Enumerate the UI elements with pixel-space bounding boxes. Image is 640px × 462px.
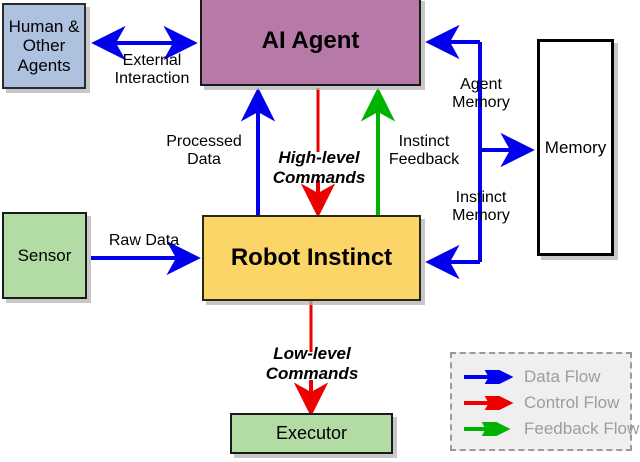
legend-label-feedback-flow: Feedback Flow xyxy=(524,419,639,439)
edge-label-agent-memory: Agent Memory xyxy=(440,76,522,113)
node-memory-label: Memory xyxy=(545,138,606,157)
legend-label-control-flow: Control Flow xyxy=(524,393,619,413)
node-memory[interactable]: Memory xyxy=(537,39,614,256)
legend-label-data-flow: Data Flow xyxy=(524,367,601,387)
feedback-flow-arrow-icon xyxy=(462,422,520,436)
edge-label-raw-data: Raw Data xyxy=(98,232,190,250)
diagram-canvas: Human & Other Agents AI Agent Memory Sen… xyxy=(0,0,640,462)
edge-label-external-interaction: External Interaction xyxy=(104,52,200,89)
node-robot-instinct-label: Robot Instinct xyxy=(231,245,392,272)
legend-item-control-flow: Control Flow xyxy=(462,390,627,416)
node-human-other-agents[interactable]: Human & Other Agents xyxy=(2,3,86,89)
control-flow-arrow-icon xyxy=(462,396,520,410)
legend-item-data-flow: Data Flow xyxy=(462,364,627,390)
edge-label-instinct-memory: Instinct Memory xyxy=(440,189,522,226)
node-executor-label: Executor xyxy=(276,423,347,443)
node-executor[interactable]: Executor xyxy=(230,413,393,454)
node-human-other-agents-label: Human & Other Agents xyxy=(9,17,80,74)
edge-label-low-level-commands: Low-level Commands xyxy=(258,344,366,383)
node-robot-instinct[interactable]: Robot Instinct xyxy=(202,215,421,301)
node-sensor-label: Sensor xyxy=(18,246,72,265)
legend-item-feedback-flow: Feedback Flow xyxy=(462,416,627,442)
edge-label-processed-data: Processed Data xyxy=(158,133,250,170)
node-ai-agent-label: AI Agent xyxy=(262,28,360,55)
legend: Data Flow Control Flow xyxy=(450,352,632,451)
edge-label-instinct-feedback: Instinct Feedback xyxy=(381,133,467,170)
node-ai-agent[interactable]: AI Agent xyxy=(200,0,421,86)
node-sensor[interactable]: Sensor xyxy=(2,212,87,299)
edge-label-high-level-commands: High-level Commands xyxy=(267,148,371,187)
data-flow-arrow-icon xyxy=(462,370,520,384)
